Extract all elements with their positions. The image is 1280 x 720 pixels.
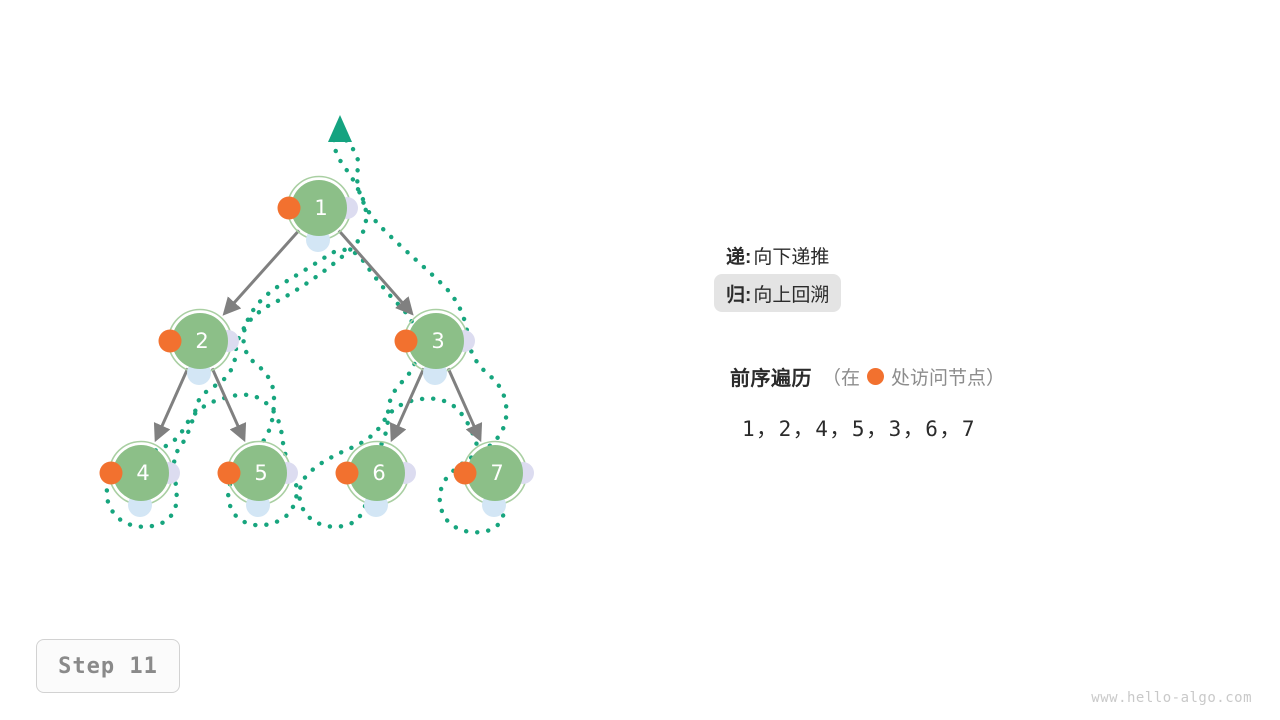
visit-dot-icon [867,368,884,385]
legend-row-backtrack: 归: 向上回溯 [714,274,841,312]
node-label: 4 [136,461,149,485]
traversal-info: 前序遍历 （在 处访问节点） 1，2，4，5，3，6，7 [730,362,1190,443]
node-label: 5 [254,461,267,485]
node-label: 1 [314,196,327,220]
tree-node-7[interactable]: 7 [454,442,535,518]
binary-tree-diagram: 1234567 [0,0,1280,720]
tree-nodes: 1234567 [100,177,535,518]
traversal-title-row: 前序遍历 （在 处访问节点） [730,362,1190,391]
legend-key-recurse: 递: [726,242,751,269]
tree-node-4[interactable]: 4 [100,442,181,518]
traversal-title: 前序遍历 [730,362,812,391]
legend-panel: 递: 向下递推 归: 向上回溯 [726,236,1146,312]
tree-edge [212,368,243,438]
node-visit-dot [159,330,182,353]
tree-edge [157,368,188,438]
legend-value-backtrack: 向上回溯 [753,280,829,307]
legend-value-recurse: 向下递推 [753,242,829,269]
tree-node-6[interactable]: 6 [336,442,417,518]
traversal-note-suffix: 处访问节点） [891,363,1005,390]
node-visit-dot [336,462,359,485]
tree-edge [393,368,424,438]
footer-url: www.hello-algo.com [1091,690,1252,706]
tree-node-2[interactable]: 2 [159,310,240,386]
legend-row-recurse: 递: 向下递推 [714,236,841,274]
node-label: 2 [195,329,208,353]
node-label: 6 [372,461,385,485]
node-visit-dot [218,462,241,485]
traversal-sequence: 1，2，4，5，3，6，7 [742,413,1190,443]
pointer-triangle-icon [328,115,352,142]
node-visit-dot [100,462,123,485]
node-visit-dot [454,462,477,485]
step-badge: Step 11 [36,639,180,693]
node-label: 3 [431,329,444,353]
traversal-note-prefix: （在 [822,363,860,390]
legend-key-backtrack: 归: [726,280,751,307]
node-visit-dot [395,330,418,353]
tree-edge [448,368,479,438]
node-visit-dot [278,197,301,220]
node-label: 7 [490,461,503,485]
